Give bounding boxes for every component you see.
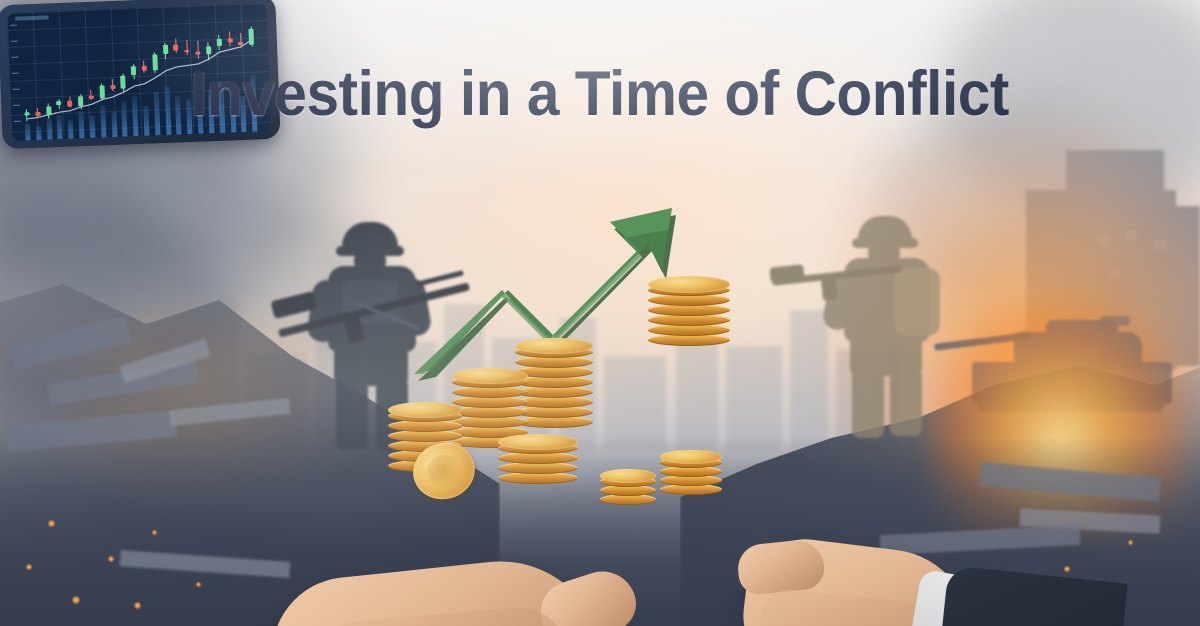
candle-body — [173, 45, 178, 51]
candle-body — [238, 42, 243, 44]
ember-spark — [196, 582, 201, 587]
coin-top — [648, 276, 730, 293]
page-title: Investing in a Time of Conflict — [42, 58, 1158, 130]
ember-spark — [48, 520, 55, 527]
candle-body — [184, 50, 189, 52]
coin-embossing — [423, 451, 465, 491]
banner-image: Investing in a Time of Conflict — [0, 0, 1200, 626]
candle-wick — [197, 41, 199, 59]
candle-body — [249, 29, 255, 45]
candle-wick — [240, 33, 242, 48]
soldier-leg-left — [852, 368, 884, 438]
soldier-leg-left — [336, 378, 368, 450]
candlestick — [31, 12, 41, 140]
soldier-right — [810, 216, 980, 438]
candle-body — [206, 46, 211, 55]
rifle-magazine — [821, 277, 837, 300]
candle-body — [227, 38, 232, 43]
candle-body — [163, 45, 168, 54]
ember-spark — [1128, 540, 1133, 545]
coin-top — [388, 402, 462, 418]
ember-spark — [134, 602, 141, 609]
ember-spark — [108, 556, 114, 562]
candle-body — [24, 112, 29, 115]
coin-top — [452, 368, 528, 384]
ember-spark — [72, 596, 80, 604]
candlestick — [21, 12, 31, 140]
coin-top — [660, 450, 722, 464]
candle-body — [217, 39, 222, 46]
ember-spark — [1064, 566, 1070, 572]
coin-top — [498, 434, 578, 450]
candle-body — [195, 52, 200, 55]
soldier-backpack — [894, 268, 940, 336]
ember-spark — [26, 564, 32, 570]
soldier-leg-right — [890, 368, 922, 436]
coin-top — [515, 338, 593, 354]
candle-wick — [186, 40, 188, 55]
ember-spark — [152, 530, 157, 535]
candle-body — [35, 112, 40, 117]
coin-top — [600, 469, 656, 483]
